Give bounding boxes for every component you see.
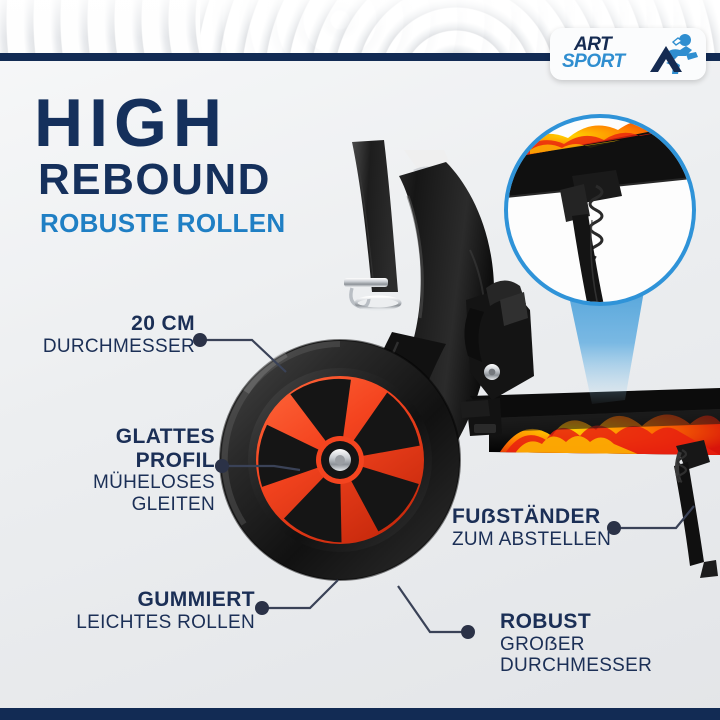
- leader-glattes: [222, 466, 300, 470]
- leader-gummiert: [262, 580, 338, 608]
- leader-dot-glattes: [215, 459, 229, 473]
- callout-fussstaender: FUẞSTÄNDER ZUM ABSTELLEN: [452, 505, 611, 550]
- callout-20cm-title: 20 CM: [43, 312, 195, 336]
- brand-logo[interactable]: ART SPORT: [550, 28, 706, 80]
- headline-line2: REBOUND: [38, 157, 285, 203]
- callout-glattes-sub1: MÜHELOSES: [93, 472, 215, 494]
- callout-gummiert: GUMMIERT LEICHTES ROLLEN: [76, 588, 255, 633]
- callout-glattes-title2: PROFIL: [93, 449, 215, 473]
- callout-robust-sub2: DURCHMESSER: [500, 655, 652, 677]
- leader-20cm: [200, 340, 286, 372]
- leader-dot-gummiert: [255, 601, 269, 615]
- headline-subtitle: ROBUSTE ROLLEN: [40, 209, 285, 238]
- product-feature-poster: ART SPORT HIGH REBOUND ROBUSTE ROLLEN 20…: [0, 0, 720, 720]
- callout-gummiert-sub1: LEICHTES ROLLEN: [76, 612, 255, 634]
- leader-dot-20cm: [193, 333, 207, 347]
- running-figure-icon: [642, 32, 700, 76]
- callout-20cm: 20 CM DURCHMESSER: [43, 312, 195, 357]
- callout-glattes-sub2: GLEITEN: [93, 494, 215, 516]
- headline-line1: HIGH: [34, 92, 285, 155]
- leader-dot-robust: [461, 625, 475, 639]
- leader-robust: [398, 586, 468, 632]
- callout-fuss-title: FUẞSTÄNDER: [452, 505, 611, 529]
- callout-20cm-sub1: DURCHMESSER: [43, 336, 195, 358]
- callout-gummiert-title: GUMMIERT: [76, 588, 255, 612]
- callout-robust-sub1: GROẞER: [500, 634, 652, 656]
- callout-glattes-profil: GLATTES PROFIL MÜHELOSES GLEITEN: [93, 425, 215, 515]
- page-title: HIGH REBOUND ROBUSTE ROLLEN: [34, 92, 285, 237]
- callout-fuss-sub1: ZUM ABSTELLEN: [452, 529, 611, 551]
- callout-robust: ROBUST GROẞER DURCHMESSER: [500, 610, 652, 677]
- leader-fuss: [614, 506, 694, 528]
- callout-glattes-title: GLATTES: [93, 425, 215, 449]
- callout-robust-title: ROBUST: [500, 610, 652, 634]
- logo-text-sport: SPORT: [562, 51, 625, 73]
